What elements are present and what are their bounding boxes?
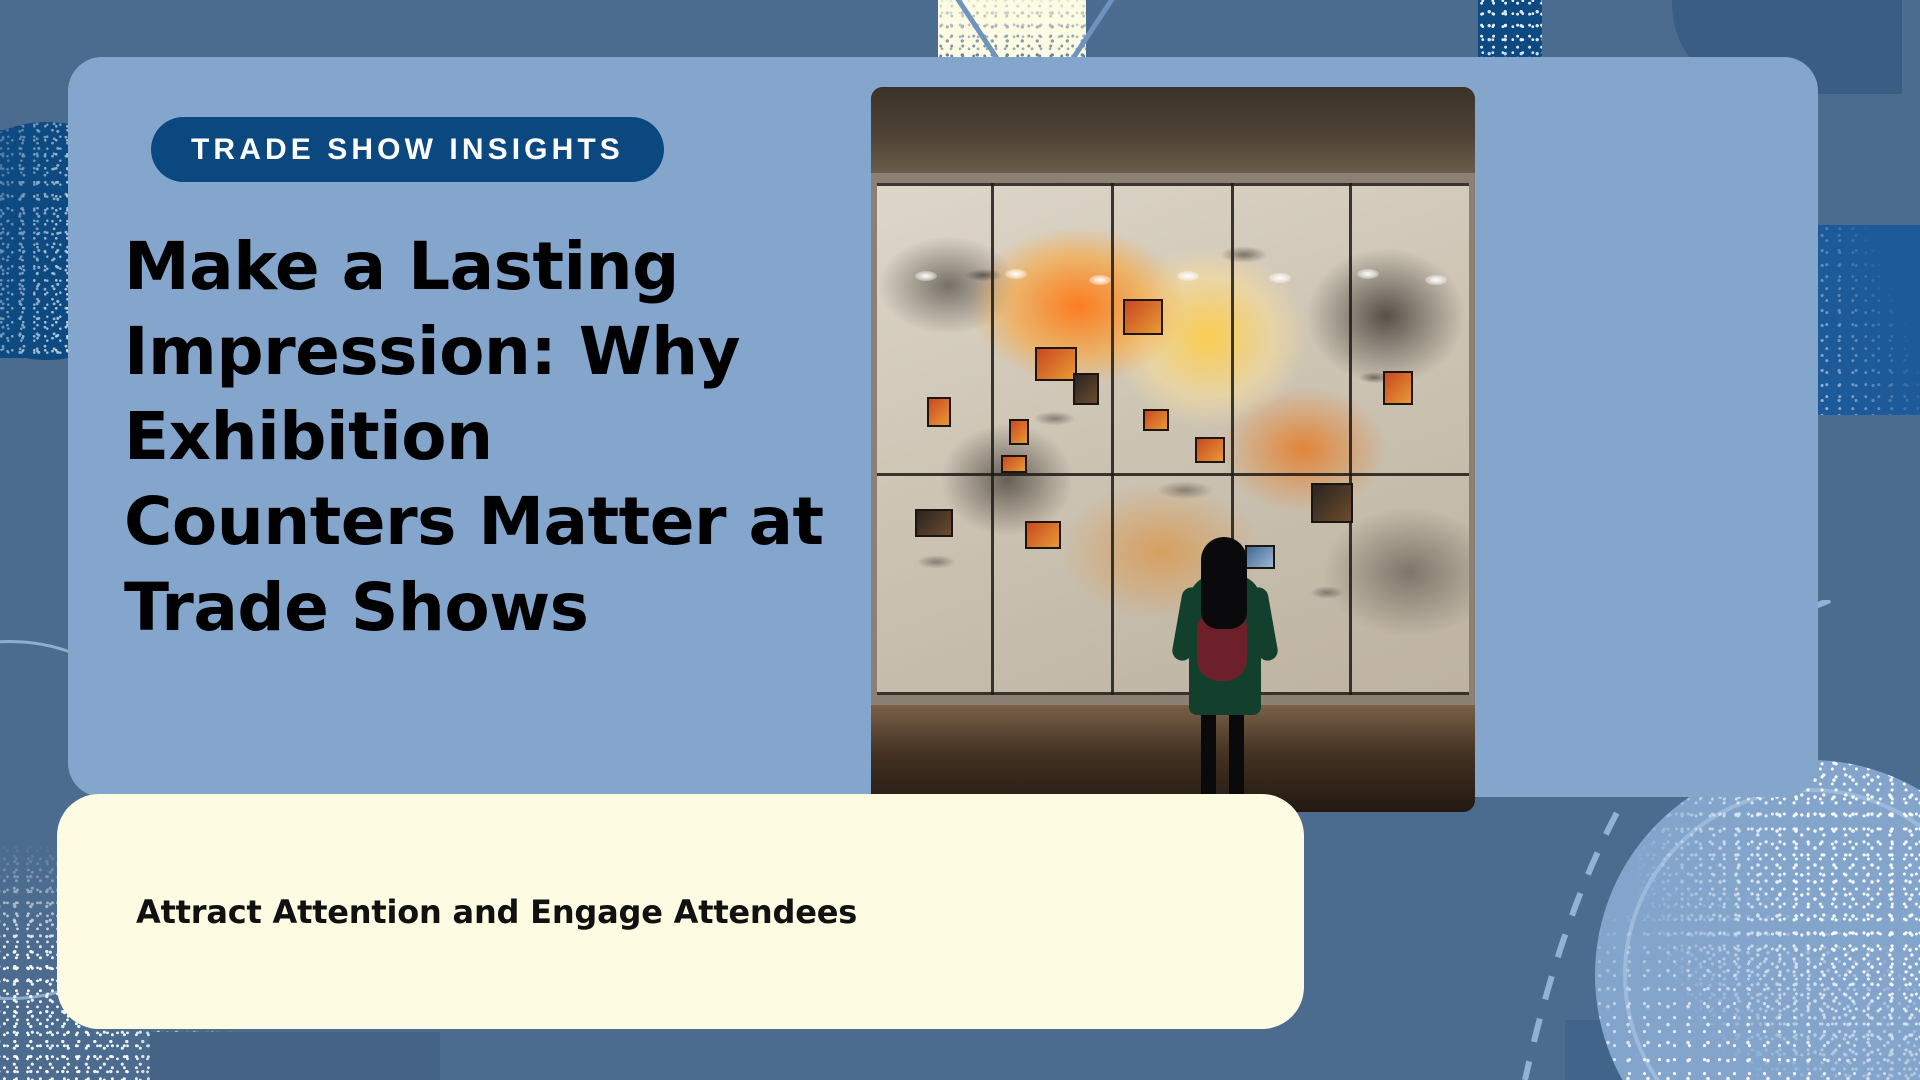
mural-divider bbox=[877, 473, 1469, 476]
framed-artwork bbox=[1073, 373, 1099, 405]
photo-scene bbox=[871, 87, 1475, 812]
mural-divider bbox=[1349, 183, 1352, 695]
framed-artwork bbox=[1123, 299, 1163, 335]
framed-artwork bbox=[1245, 545, 1275, 569]
decor-bottom-left-block bbox=[150, 1032, 440, 1080]
mural-divider bbox=[1111, 183, 1114, 695]
category-badge[interactable]: TRADE SHOW INSIGHTS bbox=[151, 117, 664, 182]
circle-ring bbox=[1623, 788, 1920, 1080]
gallery-light bbox=[1425, 275, 1447, 285]
framed-artwork bbox=[1035, 347, 1077, 381]
gallery-photo bbox=[871, 87, 1475, 812]
framed-artwork bbox=[915, 509, 953, 537]
gallery-light bbox=[1357, 269, 1379, 279]
speckle-texture-secondary bbox=[1595, 760, 1920, 1080]
framed-artwork bbox=[1001, 455, 1027, 473]
category-badge-label: TRADE SHOW INSIGHTS bbox=[191, 133, 624, 167]
framed-artwork bbox=[1009, 419, 1029, 445]
decor-bottom-right-block bbox=[1565, 1020, 1920, 1080]
mural-divider bbox=[877, 183, 1469, 186]
framed-artwork bbox=[1311, 483, 1353, 523]
poster-canvas: TRADE SHOW INSIGHTS Make a Lasting Impre… bbox=[0, 0, 1920, 1080]
framed-artwork bbox=[1195, 437, 1225, 463]
framed-artwork bbox=[1025, 521, 1061, 549]
photo-ceiling bbox=[871, 87, 1475, 175]
gallery-light bbox=[915, 271, 937, 281]
framed-artwork bbox=[1143, 409, 1169, 431]
visitor-head bbox=[1201, 537, 1247, 629]
decor-bottom-right-circle bbox=[1595, 760, 1920, 1080]
framed-artwork bbox=[1383, 371, 1413, 405]
mural-divider bbox=[991, 183, 994, 695]
photo-mural-ink bbox=[877, 183, 1469, 695]
page-title: Make a Lasting Impression: Why Exhibitio… bbox=[124, 224, 824, 650]
mural-divider bbox=[877, 692, 1469, 695]
speckle-texture bbox=[1595, 760, 1920, 1080]
framed-artwork bbox=[927, 397, 951, 427]
gallery-light bbox=[1177, 271, 1199, 281]
gallery-light bbox=[1269, 273, 1291, 283]
photo-mural bbox=[877, 183, 1469, 695]
gallery-light bbox=[1005, 269, 1027, 279]
gallery-light bbox=[1089, 275, 1111, 285]
page-subtitle: Attract Attention and Engage Attendees bbox=[136, 893, 857, 931]
